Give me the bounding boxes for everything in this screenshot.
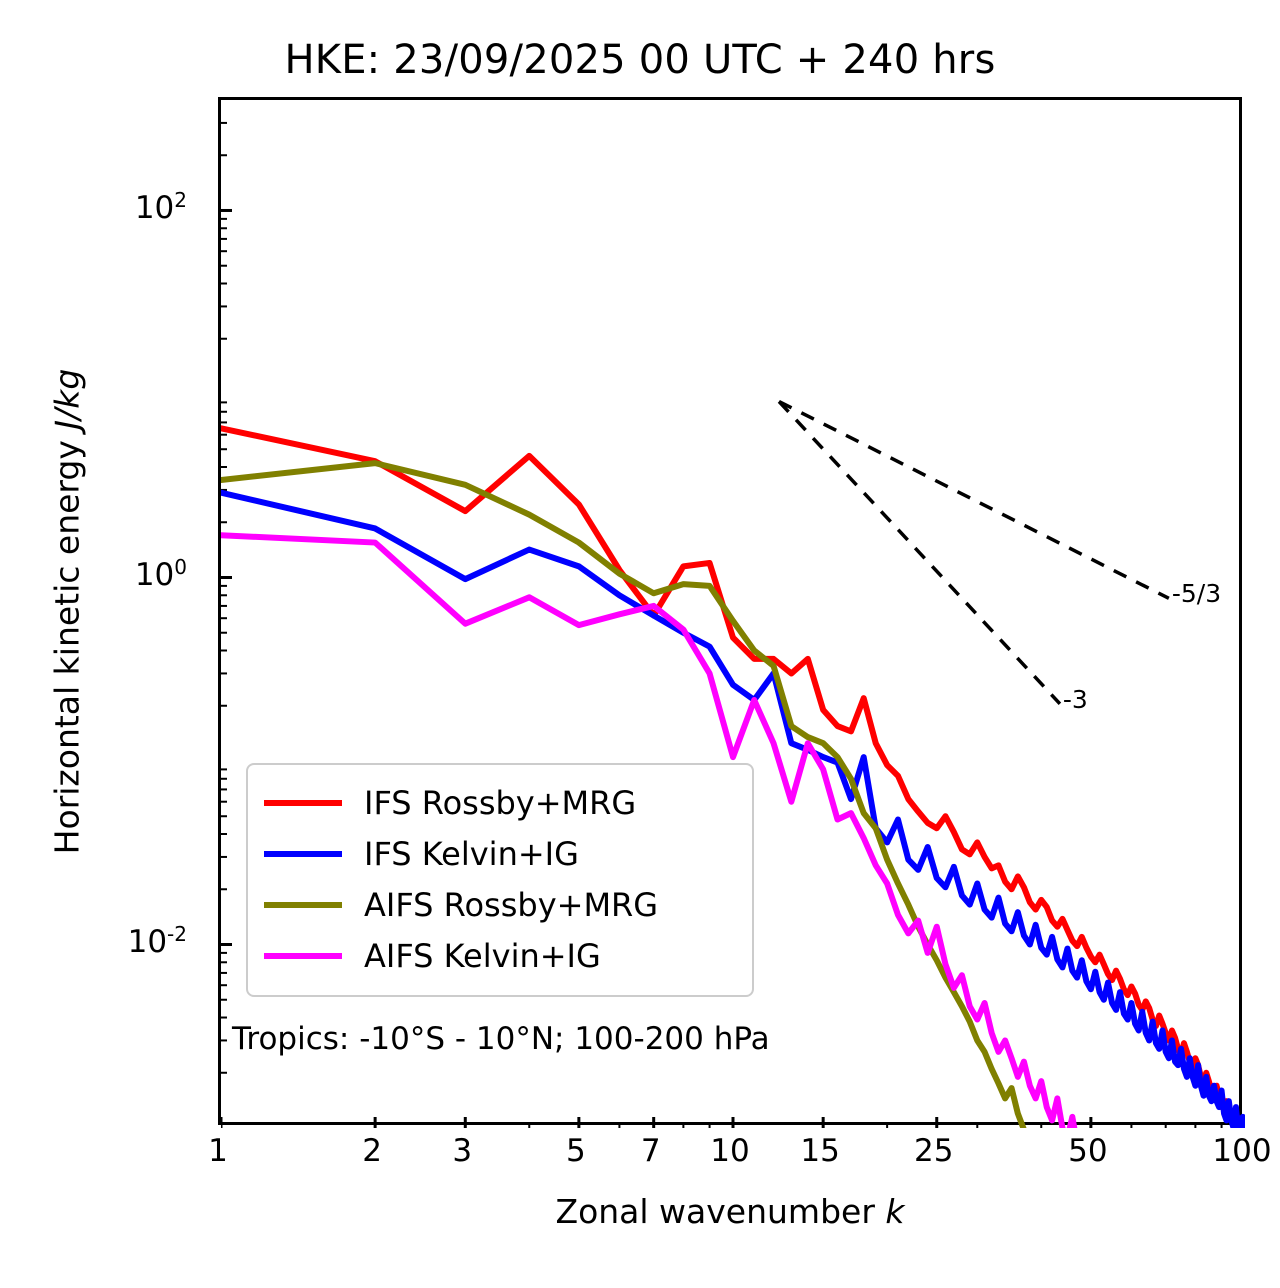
- legend-color-swatch: [264, 800, 342, 806]
- legend-item[interactable]: IFS Rossby+MRG: [264, 777, 736, 828]
- x-axis-label-symbol: k: [885, 1192, 904, 1231]
- legend-label: AIFS Rossby+MRG: [364, 886, 658, 924]
- slope-label: -5/3: [1172, 579, 1221, 608]
- x-tick-label: 25: [914, 1133, 953, 1169]
- x-tick-label: 100: [1212, 1133, 1271, 1169]
- x-tick-label: 3: [452, 1133, 472, 1169]
- legend-item[interactable]: AIFS Rossby+MRG: [264, 879, 736, 930]
- x-tick-label: 10: [710, 1133, 749, 1169]
- legend-item[interactable]: AIFS Kelvin+IG: [264, 930, 736, 981]
- legend: IFS Rossby+MRGIFS Kelvin+IGAIFS Rossby+M…: [246, 763, 754, 997]
- y-axis-label-units: J/kg: [48, 369, 87, 430]
- x-tick-label: 5: [566, 1133, 586, 1169]
- x-axis-label-text: Zonal wavenumber: [555, 1192, 885, 1231]
- x-tick-label: 50: [1068, 1133, 1107, 1169]
- slope-label: -3: [1063, 685, 1088, 714]
- legend-color-swatch: [264, 902, 342, 908]
- legend-color-swatch: [264, 953, 342, 959]
- legend-label: IFS Kelvin+IG: [364, 835, 579, 873]
- legend-color-swatch: [264, 851, 342, 857]
- chart-title: HKE: 23/09/2025 00 UTC + 240 hrs: [0, 40, 1280, 80]
- region-annotation: Tropics: -10°S - 10°N; 100-200 hPa: [232, 1021, 770, 1057]
- y-axis-label-text: Horizontal kinetic energy: [48, 430, 87, 855]
- figure: HKE: 23/09/2025 00 UTC + 240 hrs Horizon…: [0, 0, 1280, 1288]
- x-tick-label: 1: [208, 1133, 228, 1169]
- reference-lines: [779, 402, 1169, 704]
- legend-label: IFS Rossby+MRG: [364, 784, 636, 822]
- legend-label: AIFS Kelvin+IG: [364, 937, 601, 975]
- y-axis-label: Horizontal kinetic energy J/kg: [48, 262, 87, 962]
- y-tick-label: 102: [0, 188, 205, 226]
- y-tick-label: 100: [0, 555, 205, 593]
- x-axis-label: Zonal wavenumber k: [218, 1192, 1242, 1231]
- x-tick-label: 7: [641, 1133, 661, 1169]
- y-tick-label: 10-2: [0, 922, 205, 960]
- legend-item[interactable]: IFS Kelvin+IG: [264, 828, 736, 879]
- x-tick-label: 2: [362, 1133, 382, 1169]
- x-tick-label: 15: [800, 1133, 839, 1169]
